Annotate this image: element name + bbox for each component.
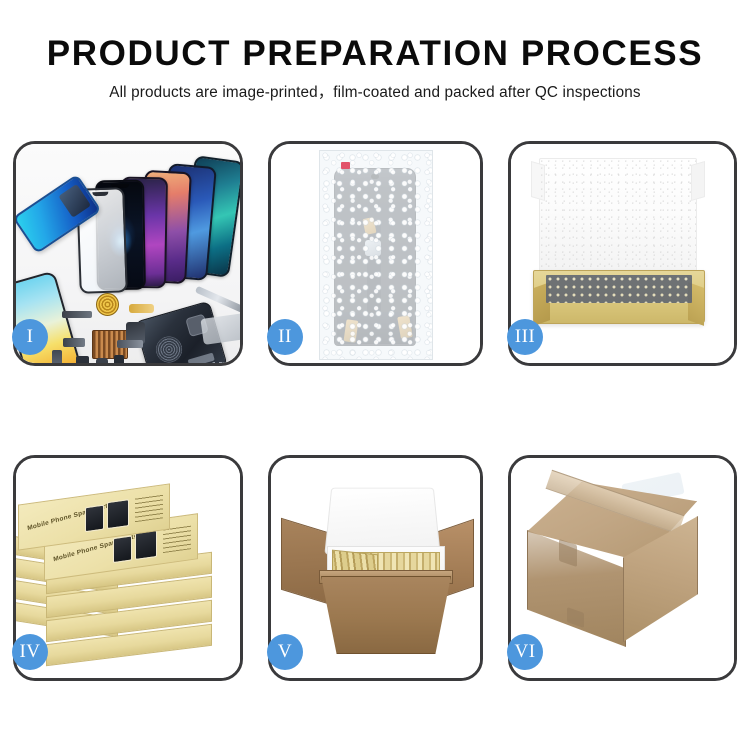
box-thumb-image [135, 530, 157, 560]
screws-part [212, 362, 240, 363]
chip-part [76, 356, 89, 363]
red-label-sticker [341, 162, 350, 169]
step-5-carton-packing[interactable]: V [268, 455, 483, 681]
step-4-boxed-stack[interactable]: Mobile Phone Spare Parts Mobile Phone Sp… [13, 455, 243, 681]
carton-body [321, 576, 451, 654]
step-3-foam-box[interactable]: III [508, 141, 737, 366]
vibrator-part [96, 358, 108, 363]
chip-part [114, 355, 124, 363]
flex-cable-part [117, 340, 143, 348]
box-thumb-image [107, 499, 129, 529]
bubble-wrap-bag [319, 150, 433, 360]
box-spec-lines [135, 493, 163, 522]
step-badge-5: V [267, 634, 303, 670]
gold-tray-box [533, 270, 705, 324]
notch-icon [92, 192, 108, 197]
step-1-parts[interactable]: I [13, 141, 243, 366]
step-badge-2: II [267, 319, 303, 355]
bubble-wrapped-contents [546, 275, 692, 303]
bubble-texture [320, 151, 432, 359]
speaker-part [96, 293, 119, 316]
gold-flex-part [129, 304, 154, 313]
step-1-image [16, 144, 240, 363]
flex-cable-part [63, 338, 85, 347]
step-badge-6: VI [507, 634, 543, 670]
box-thumb-image [85, 505, 104, 533]
sim-tray-part [52, 350, 62, 363]
step-6-image [511, 458, 734, 678]
flex-cable-part [62, 311, 92, 318]
wireless-coil-icon [153, 333, 185, 363]
box-thumb-image [113, 535, 132, 563]
step-6-sealed-carton[interactable]: VI [508, 455, 737, 681]
step-3-image [511, 144, 734, 363]
battery-strip [188, 353, 215, 363]
step-2-image [271, 144, 480, 363]
tweezers-icon [200, 313, 240, 345]
step-4-image: Mobile Phone Spare Parts Mobile Phone Sp… [16, 458, 240, 678]
step-badge-4: IV [12, 634, 48, 670]
foam-lid-open [324, 488, 440, 555]
step-5-image [271, 458, 480, 678]
step-badge-1: I [12, 319, 48, 355]
process-step-grid: I II [0, 0, 750, 750]
step-badge-3: III [507, 319, 543, 355]
step-2-bubble-wrap[interactable]: II [268, 141, 483, 366]
